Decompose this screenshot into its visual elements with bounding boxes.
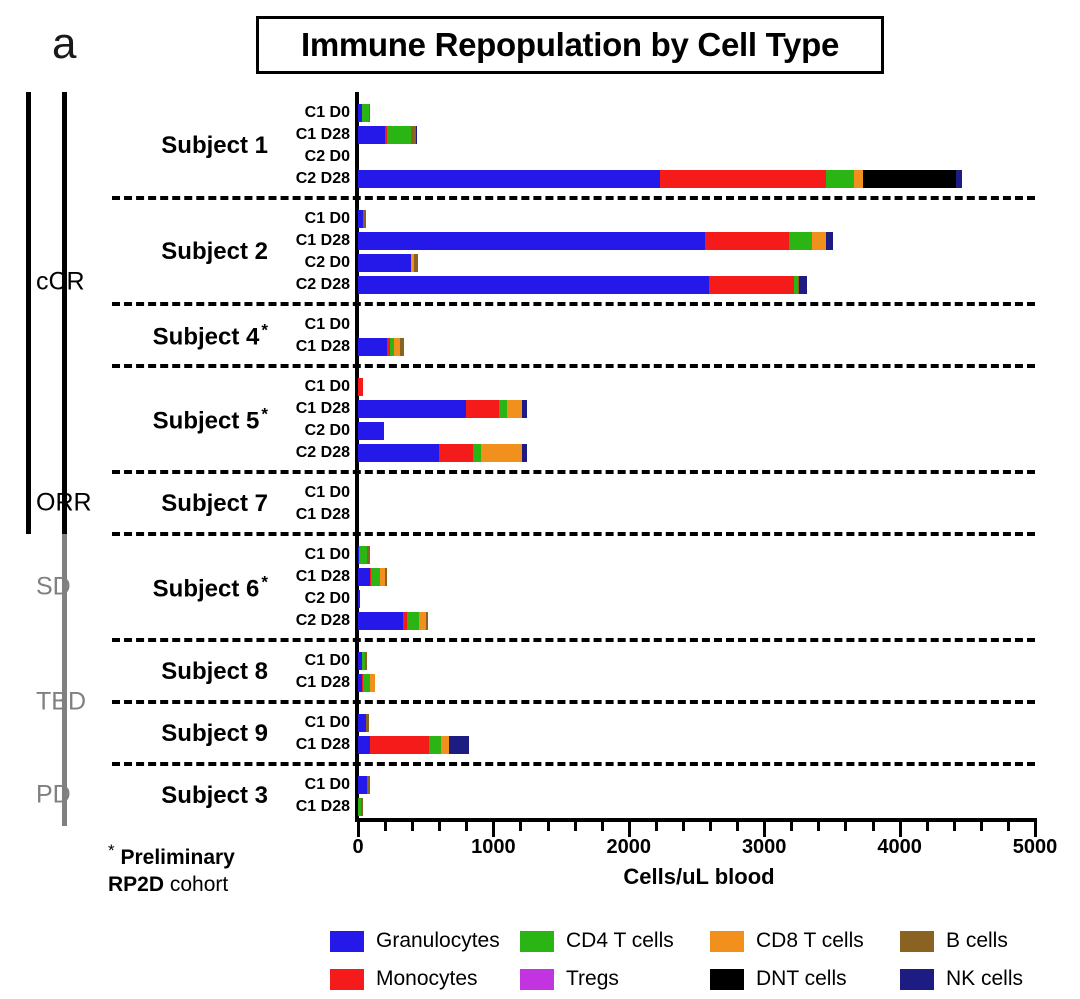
legend-swatch-b (900, 931, 934, 952)
footnote-star: * (108, 841, 115, 860)
response-group-label-sd: SD (36, 573, 71, 602)
x-axis-tick-minor (601, 822, 604, 831)
bar-segment-granulocytes (358, 568, 370, 586)
x-axis-tick-label: 0 (352, 836, 363, 859)
bar-segment-b-cells (365, 652, 366, 670)
timepoint-label: C1 D0 (272, 776, 350, 794)
bar-segment-granulocytes (358, 422, 384, 440)
subject-name-text: Subject 8 (161, 658, 268, 685)
bar-segment-b-cells (385, 568, 387, 586)
legend-swatch-granulocytes (330, 931, 364, 952)
bar-segment-granulocytes (358, 276, 709, 294)
footnote-line1: Preliminary (120, 846, 234, 869)
bar-segment-cd4-t-cells (826, 170, 853, 188)
stacked-bar (358, 254, 418, 272)
timepoint-label: C1 D0 (272, 652, 350, 670)
bar-segment-b-cells (366, 714, 369, 732)
stacked-bar (358, 338, 404, 356)
x-axis-tick-major (357, 822, 360, 837)
stacked-bar (358, 612, 428, 630)
bar-segment-cd4-t-cells (359, 546, 366, 564)
x-axis-tick-minor (465, 822, 468, 831)
subject-label-subject-2: Subject 2 (118, 238, 268, 266)
stacked-bar (358, 714, 370, 732)
bar-segment-nk-cells (956, 170, 961, 188)
bar-segment-cd8-t-cells (812, 232, 827, 250)
x-axis-tick-minor (872, 822, 875, 831)
bar-segment-cd8-t-cells (370, 674, 375, 692)
timepoint-label: C1 D28 (272, 674, 350, 692)
legend-label-cd4: CD4 T cells (566, 929, 674, 953)
x-axis-tick-major (899, 822, 902, 837)
legend-item-granulocytes[interactable]: Granulocytes (330, 929, 520, 953)
x-axis-tick-minor (655, 822, 658, 831)
subject-label-subject-1: Subject 1 (118, 132, 268, 160)
subject-label-subject-9: Subject 9 (118, 720, 268, 748)
x-axis-tick-minor (844, 822, 847, 831)
subject-divider (112, 196, 1035, 200)
response-group-label-orr: ORR (36, 489, 92, 518)
stacked-bar (358, 444, 527, 462)
bar-segment-cd4-t-cells (362, 104, 369, 122)
x-axis-tick-minor (682, 822, 685, 831)
timepoint-label: C2 D0 (272, 590, 350, 608)
stacked-bar (358, 232, 833, 250)
stacked-bar (358, 422, 384, 440)
footnote-line2-bold: RP2D (108, 873, 164, 896)
bar-segment-granulocytes (358, 736, 370, 754)
stacked-bar (358, 276, 807, 294)
subject-divider (112, 700, 1035, 704)
bar-segment-cd8-t-cells (854, 170, 863, 188)
bar-segment-monocytes (660, 170, 827, 188)
x-axis-tick-major (763, 822, 766, 837)
bar-segment-cd4-t-cells (387, 126, 411, 144)
x-axis-tick-minor (384, 822, 387, 831)
response-outer-spine (26, 92, 31, 534)
bar-segment-b-cells (426, 612, 427, 630)
x-axis-tick-minor (519, 822, 522, 831)
stacked-bar (358, 652, 367, 670)
x-axis-tick-minor (790, 822, 793, 831)
timepoint-label: C1 D0 (272, 484, 350, 502)
bar-segment-cd8-t-cells (419, 612, 426, 630)
bar-segment-granulocytes (358, 612, 403, 630)
bar-segment-granulocytes (358, 714, 366, 732)
timepoint-label: C1 D0 (272, 378, 350, 396)
bar-segment-cd4-t-cells (429, 736, 441, 754)
legend-swatch-tregs (520, 969, 554, 990)
bar-segment-b-cells (400, 338, 404, 356)
x-axis-tick-label: 4000 (877, 836, 922, 859)
bar-segment-granulocytes (358, 776, 367, 794)
bar-segment-nk-cells (799, 276, 806, 294)
bar-segment-nk-cells (449, 736, 469, 754)
bar-segment-monocytes (705, 232, 789, 250)
bar-segment-cd8-t-cells (481, 444, 522, 462)
response-group-label-tbd: TBD (36, 688, 86, 717)
x-axis-tick-label: 5000 (1013, 836, 1058, 859)
x-axis-tick-minor (1007, 822, 1010, 831)
x-axis-tick-label: 3000 (742, 836, 787, 859)
x-axis-line (355, 818, 1037, 822)
bar-segment-nk-cells (416, 126, 417, 144)
bar-segment-cd4-t-cells (473, 444, 481, 462)
subject-divider (112, 470, 1035, 474)
subject-name-text: Subject 6 (153, 576, 260, 603)
subject-name-text: Subject 5 (153, 408, 260, 435)
legend-item-cd4[interactable]: CD4 T cells (520, 929, 710, 953)
bar-segment-granulocytes (358, 126, 385, 144)
chart-legend: GranulocytesCD4 T cellsCD8 T cellsB cell… (330, 922, 1080, 998)
x-axis-tick-minor (574, 822, 577, 831)
legend-label-b: B cells (946, 929, 1008, 953)
timepoint-label: C1 D0 (272, 104, 350, 122)
preliminary-star-icon: * (261, 405, 268, 424)
subject-divider (112, 638, 1035, 642)
legend-swatch-cd4 (520, 931, 554, 952)
legend-row: GranulocytesCD4 T cellsCD8 T cellsB cell… (330, 922, 1080, 960)
subject-label-subject-6: Subject 6* (118, 573, 268, 604)
bar-segment-monocytes (439, 444, 473, 462)
subject-divider (112, 364, 1035, 368)
x-axis-tick-minor (411, 822, 414, 831)
bar-segment-granulocytes (358, 232, 705, 250)
stacked-bar (358, 104, 370, 122)
timepoint-label: C1 D28 (272, 798, 350, 816)
legend-label-monocytes: Monocytes (376, 967, 478, 991)
timepoint-label: C2 D28 (272, 276, 350, 294)
subject-name-text: Subject 3 (161, 782, 268, 809)
subject-divider (112, 302, 1035, 306)
x-axis-tick-minor (926, 822, 929, 831)
bar-segment-b-cells (361, 798, 362, 816)
legend-swatch-monocytes (330, 969, 364, 990)
preliminary-star-icon: * (261, 573, 268, 592)
stacked-bar (358, 546, 370, 564)
x-axis-tick-minor (438, 822, 441, 831)
bar-segment-cd4-t-cells (499, 400, 506, 418)
stacked-bar (358, 170, 962, 188)
timepoint-label: C1 D28 (272, 506, 350, 524)
legend-label-nk: NK cells (946, 967, 1023, 991)
bar-segment-b-cells (369, 104, 370, 122)
bar-segment-granulocytes (358, 254, 411, 272)
bar-segment-dnt-cells (863, 170, 956, 188)
bar-segment-granulocytes (358, 170, 660, 188)
bar-segment-nk-cells (522, 400, 527, 418)
stacked-bar (358, 568, 387, 586)
x-axis-tick-major (492, 822, 495, 837)
x-axis-tick-minor (547, 822, 550, 831)
legend-item-dnt[interactable]: DNT cells (710, 967, 900, 991)
stacked-bar (358, 400, 527, 418)
x-axis-tick-major (1034, 822, 1037, 837)
bar-segment-cd4-t-cells (789, 232, 812, 250)
bar-segment-cd4-t-cells (407, 612, 419, 630)
legend-item-tregs[interactable]: Tregs (520, 967, 710, 991)
subject-name-text: Subject 2 (161, 238, 268, 265)
bar-segment-granulocytes (358, 444, 439, 462)
subject-label-subject-7: Subject 7 (118, 490, 268, 518)
x-axis-tick-minor (953, 822, 956, 831)
timepoint-label: C1 D0 (272, 546, 350, 564)
response-group-label-ccr: cCR (36, 268, 85, 297)
timepoint-label: C2 D28 (272, 444, 350, 462)
timepoint-label: C1 D28 (272, 232, 350, 250)
legend-label-cd8: CD8 T cells (756, 929, 864, 953)
x-axis-tick-minor (709, 822, 712, 831)
x-axis-tick-label: 2000 (607, 836, 652, 859)
timepoint-label: C1 D28 (272, 736, 350, 754)
x-axis-tick-minor (817, 822, 820, 831)
bar-segment-granulocytes (358, 400, 466, 418)
timepoint-label: C1 D28 (272, 568, 350, 586)
legend-item-monocytes[interactable]: Monocytes (330, 967, 520, 991)
bar-segment-granulocytes (358, 338, 387, 356)
legend-swatch-nk (900, 969, 934, 990)
bar-segment-b-cells (367, 776, 370, 794)
subject-name-text: Subject 1 (161, 132, 268, 159)
x-axis-tick-label: 1000 (471, 836, 516, 859)
x-axis-tick-minor (980, 822, 983, 831)
x-axis-tick-major (628, 822, 631, 837)
legend-label-dnt: DNT cells (756, 967, 847, 991)
x-axis-tick-minor (736, 822, 739, 831)
subject-label-subject-4: Subject 4* (118, 321, 268, 352)
subject-divider (112, 762, 1035, 766)
bar-segment-nk-cells (522, 444, 527, 462)
timepoint-label: C1 D28 (272, 400, 350, 418)
subject-name-text: Subject 7 (161, 490, 268, 517)
preliminary-star-icon: * (261, 321, 268, 340)
footnote-line2-regular: cohort (170, 873, 228, 896)
bar-segment-cd4-t-cells (363, 674, 370, 692)
bar-segment-cd8-t-cells (441, 736, 449, 754)
stacked-bar (358, 674, 375, 692)
stacked-bar (358, 736, 469, 754)
legend-item-b[interactable]: B cells (900, 929, 1080, 953)
timepoint-label: C2 D28 (272, 170, 350, 188)
timepoint-label: C2 D28 (272, 612, 350, 630)
legend-row: MonocytesTregsDNT cellsNK cells (330, 960, 1080, 998)
subject-name-text: Subject 9 (161, 720, 268, 747)
subject-label-subject-5: Subject 5* (118, 405, 268, 436)
subject-label-subject-8: Subject 8 (118, 658, 268, 686)
subject-name-text: Subject 4 (153, 324, 260, 351)
legend-label-granulocytes: Granulocytes (376, 929, 500, 953)
legend-swatch-dnt (710, 969, 744, 990)
stacked-bar (358, 378, 363, 396)
bar-segment-cd8-t-cells (507, 400, 522, 418)
stacked-bar (358, 798, 363, 816)
timepoint-label: C1 D28 (272, 126, 350, 144)
bar-segment-b-cells (367, 546, 370, 564)
bar-segment-monocytes (709, 276, 794, 294)
legend-item-nk[interactable]: NK cells (900, 967, 1080, 991)
subject-label-subject-3: Subject 3 (118, 782, 268, 810)
bar-segment-monocytes (358, 378, 363, 396)
bar-segment-nk-cells (826, 232, 832, 250)
bar-segment-b-cells (414, 254, 419, 272)
timepoint-label: C2 D0 (272, 148, 350, 166)
timepoint-label: C1 D0 (272, 714, 350, 732)
bar-segment-b-cells (363, 210, 366, 228)
bar-segment-monocytes (370, 736, 430, 754)
stacked-bar (358, 590, 360, 608)
timepoint-label: C2 D0 (272, 254, 350, 272)
timepoint-label: C2 D0 (272, 422, 350, 440)
stacked-bar (358, 210, 366, 228)
response-group-label-pd: PD (36, 781, 71, 810)
footnote: * Preliminary RP2D cohort (108, 840, 235, 899)
legend-label-tregs: Tregs (566, 967, 619, 991)
subject-divider (112, 532, 1035, 536)
bar-segment-cd4-t-cells (371, 568, 380, 586)
bar-segment-monocytes (466, 400, 499, 418)
timepoint-label: C1 D28 (272, 338, 350, 356)
x-axis-title: Cells/uL blood (358, 864, 1040, 890)
stacked-bar (358, 776, 370, 794)
timepoint-label: C1 D0 (272, 210, 350, 228)
bar-segment-granulocytes (358, 590, 360, 608)
stacked-bar (358, 126, 417, 144)
legend-swatch-cd8 (710, 931, 744, 952)
legend-item-cd8[interactable]: CD8 T cells (710, 929, 900, 953)
timepoint-label: C1 D0 (272, 316, 350, 334)
